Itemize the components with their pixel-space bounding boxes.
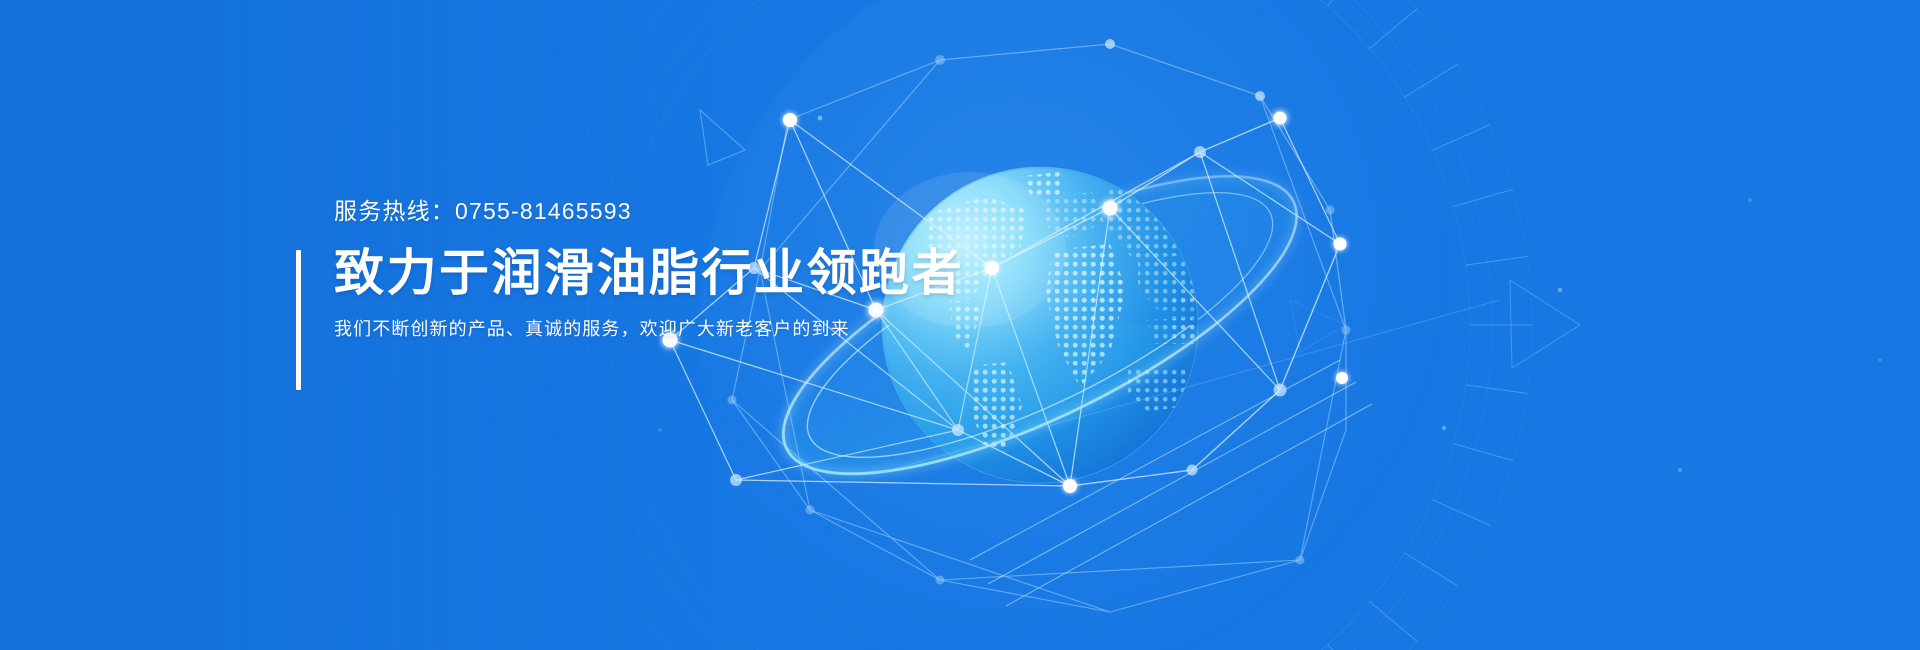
hero-text-block: 服务热线：0755-81465593 致力于润滑油脂行业领跑者 我们不断创新的产…	[296, 196, 1056, 342]
page-subtitle: 我们不断创新的产品、真诚的服务，欢迎广大新老客户的到来	[334, 316, 1056, 342]
hero-banner: 服务热线：0755-81465593 致力于润滑油脂行业领跑者 我们不断创新的产…	[0, 0, 1920, 650]
page-title: 致力于润滑油脂行业领跑者	[334, 242, 1056, 304]
service-hotline: 服务热线：0755-81465593	[334, 196, 1056, 226]
accent-bar	[296, 250, 301, 390]
